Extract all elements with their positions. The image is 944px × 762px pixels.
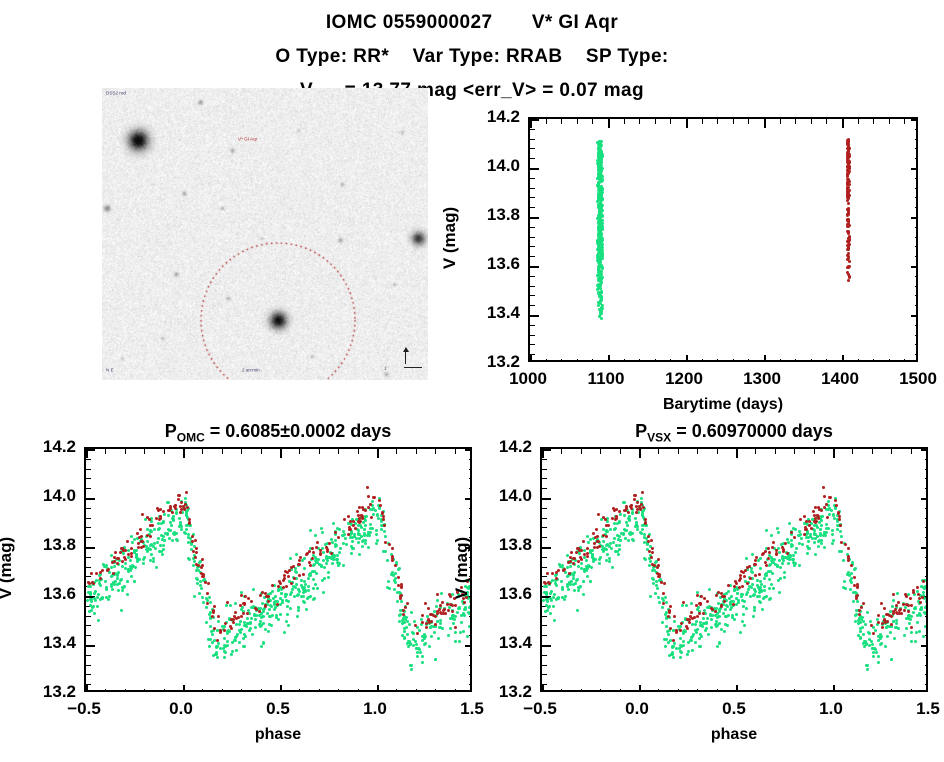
data-point [618,544,621,547]
axis-tick [183,685,185,692]
data-point [177,498,180,501]
axis-tick [530,295,535,296]
data-point [153,528,156,531]
axis-tick [396,689,397,692]
data-point [235,649,238,652]
data-point [90,572,93,575]
data-point [369,523,372,526]
data-point [303,557,306,560]
axis-tick [530,119,539,121]
data-point [605,535,608,538]
axis-tick [925,527,928,528]
data-point [681,604,684,607]
axis-tick [889,359,890,362]
data-point [201,564,204,567]
axis-tick [915,295,918,296]
data-point [274,595,277,598]
axis-tick [125,449,126,454]
data-point [682,644,685,647]
axis-tick [925,684,928,685]
data-point [323,577,326,580]
data-point [599,313,602,316]
data-point [353,535,356,538]
data-point [160,522,163,525]
axis-tick [608,355,610,362]
data-point [178,525,181,528]
x-axis-label-timeseries: Barytime (days) [528,396,918,414]
data-point [312,578,315,581]
axis-tick [377,685,379,692]
data-point [260,645,263,648]
data-point [358,553,361,556]
data-point [447,634,450,637]
data-point [172,518,175,521]
axis-tick [925,674,928,675]
data-point [634,525,637,528]
data-point [839,524,842,527]
data-point [748,585,751,588]
data-point [107,568,110,571]
axis-tick [86,488,91,489]
axis-tick [842,119,844,128]
x-axis-tick-label: 1.0 [330,699,420,719]
data-point [440,592,443,595]
data-point [337,536,340,539]
data-point [814,521,817,524]
data-point [840,535,843,538]
data-point [417,647,420,650]
data-point [580,558,583,561]
data-point [113,565,116,568]
axis-tick [183,449,185,458]
data-point [770,583,773,586]
data-point [99,571,102,574]
axis-tick [105,689,106,692]
data-point [661,621,664,624]
axis-tick [925,488,928,489]
data-point [706,600,709,603]
axis-tick [86,478,91,479]
axis-tick [86,469,91,470]
data-point [555,571,558,574]
data-point [243,645,246,648]
data-point [382,518,385,521]
data-point [699,633,702,636]
data-point [694,641,697,644]
data-point [330,538,333,541]
data-point [549,592,552,595]
data-point [573,589,576,592]
data-point [863,645,866,648]
axis-tick [639,119,640,124]
axis-tick [542,674,547,675]
data-point [436,599,439,602]
data-point [550,599,553,602]
axis-tick [639,449,641,458]
data-point [577,589,580,592]
data-point [826,516,829,519]
data-point [113,583,116,586]
data-point [202,573,205,576]
data-point [758,595,761,598]
data-point [664,645,667,648]
data-point [243,602,246,605]
axis-tick [542,635,547,636]
data-point [840,541,843,544]
data-point [875,651,878,654]
data-point [751,583,754,586]
data-point [280,592,283,595]
var-type-value: RRAB [506,46,563,67]
data-point [892,593,895,596]
finder-chart-image [102,88,428,380]
axis-tick [717,449,718,454]
data-point [823,495,826,498]
data-point [847,559,850,562]
data-point [754,574,757,577]
data-point [120,578,123,581]
data-point [824,534,827,537]
axis-tick [86,655,91,656]
data-point [877,661,880,664]
sp-type-label: SP Type: [586,46,669,67]
data-point [651,551,654,554]
data-point [680,651,683,654]
x-axis-tick-label: 1200 [639,369,729,389]
axis-tick [530,246,535,247]
data-point [583,568,586,571]
data-point [908,622,911,625]
axis-tick [86,557,91,558]
data-point [708,588,711,591]
axis-tick [542,665,547,666]
axis-tick [241,449,242,454]
data-point [244,595,247,598]
data-point [573,557,576,560]
data-point [834,507,837,510]
data-point [269,615,272,618]
data-point [848,260,851,263]
data-point [729,608,732,611]
panel-title-vsx: PVSX = 0.60970000 days [540,421,928,445]
data-point [114,551,117,554]
data-point [702,617,705,620]
finder-fov-label: 2 arcmin [242,368,260,374]
data-point [881,626,884,629]
data-point [577,547,580,550]
data-point [898,609,901,612]
data-point [328,556,331,559]
data-point [308,574,311,577]
data-point [569,565,572,568]
axis-tick [891,449,892,454]
axis-tick [697,689,698,692]
page-title: IOMC 0559000027 V* GI Aqr [0,12,944,34]
data-point [624,509,627,512]
data-point [289,593,292,596]
data-point [216,656,219,659]
data-point [309,529,312,532]
data-point [283,631,286,634]
data-point [759,580,762,583]
data-point [120,609,123,612]
finder-chart: DSS2 red V* GI Aqr N E 2 arcmin 1' [102,88,428,380]
data-point [585,559,588,562]
axis-tick [530,237,535,238]
data-point [194,539,197,542]
axis-tick [925,665,928,666]
data-point [600,233,603,236]
axis-tick [702,119,703,124]
data-point [149,524,152,527]
data-point [156,541,159,544]
data-point [219,647,222,650]
data-point [408,623,411,626]
data-point [868,632,871,635]
data-point [922,635,925,638]
data-point [225,604,228,607]
data-point [381,512,384,515]
axis-tick [435,449,436,454]
data-point [800,537,803,540]
data-point [685,604,688,607]
data-point [847,231,850,234]
data-point [692,633,695,636]
data-point [394,564,397,567]
data-point [831,529,834,532]
data-point [843,580,846,583]
data-point [191,535,194,538]
data-point [440,612,443,615]
axis-tick [561,119,562,124]
data-point [761,608,764,611]
axis-tick [530,158,535,159]
data-point [307,577,310,580]
data-point [877,655,880,658]
axis-tick [530,188,535,189]
axis-tick [733,359,734,362]
data-point [435,605,438,608]
data-point [672,656,675,659]
data-point [254,626,257,629]
axis-tick [925,635,928,636]
data-point [690,602,693,605]
data-point [658,573,661,576]
data-point [413,620,416,623]
data-point [793,536,796,539]
data-point [820,509,823,512]
data-point [224,645,227,648]
data-point [545,585,548,588]
data-point [680,622,683,625]
axis-tick [581,689,582,692]
data-point [188,521,191,524]
data-point [739,574,742,577]
data-point [686,627,689,630]
axis-tick [915,354,918,355]
data-point [599,287,602,290]
data-point [157,528,160,531]
data-point [89,592,92,595]
data-point [437,637,440,640]
data-point [735,613,738,616]
axis-tick [600,689,601,692]
axis-tick [826,119,827,124]
axis-tick [577,359,578,362]
data-point [698,612,701,615]
axis-tick [581,449,582,454]
data-point [719,607,722,610]
data-point [776,527,779,530]
data-point [89,598,92,601]
data-point [765,564,768,567]
axis-tick [338,449,339,454]
data-point [590,566,593,569]
data-point [556,597,559,600]
data-point [807,547,810,550]
data-point [848,239,851,242]
y-axis-label-omc: V (mag) [0,374,16,762]
data-point [378,507,381,510]
data-point [152,560,155,563]
axis-tick [530,335,535,336]
data-point [553,619,556,622]
north-arrow-icon [405,348,406,364]
data-point [198,592,201,595]
axis-tick [530,207,535,208]
data-point [819,528,822,531]
data-point [135,553,138,556]
axis-tick [600,449,601,454]
data-point [857,619,860,622]
data-point [820,542,823,545]
data-point [238,641,241,644]
data-point [630,504,633,507]
data-point [820,524,823,527]
data-point [874,629,877,632]
axis-tick [530,168,539,170]
data-point [201,558,204,561]
axis-tick [319,689,320,692]
data-point [273,608,276,611]
data-point [691,649,694,652]
data-point [100,597,103,600]
axis-tick [639,359,640,362]
data-point [434,658,437,661]
data-point [168,529,171,532]
axis-tick [655,119,656,124]
data-point [768,587,771,590]
data-point [601,198,604,201]
data-point [211,633,214,636]
axis-tick [915,178,918,179]
data-point [302,588,305,591]
data-point [605,544,608,547]
data-point [195,547,198,550]
data-point [749,577,752,580]
data-point [601,228,604,231]
data-point [178,517,181,520]
axis-tick [911,449,912,454]
data-point [312,587,315,590]
axis-tick [416,449,417,454]
data-point [322,591,325,594]
data-point [549,612,552,615]
axis-tick [561,359,562,362]
data-point [767,570,770,573]
data-point [167,514,170,517]
data-point [707,633,710,636]
axis-tick [86,674,91,675]
data-point [870,640,873,643]
data-point [226,644,229,647]
y-axis-tick-label: 14.2 [450,107,520,127]
data-point [433,631,436,634]
data-point [798,564,801,567]
data-point [852,600,855,603]
data-point [866,611,869,614]
data-point [889,631,892,634]
data-point [665,601,668,604]
data-point [790,531,793,534]
data-point [844,543,847,546]
data-point [651,569,654,572]
data-point [566,575,569,578]
data-point [599,296,602,299]
data-point [344,537,347,540]
data-point [444,612,447,615]
data-point [838,515,841,518]
data-point [586,552,589,555]
axis-tick [915,237,918,238]
data-point [610,547,613,550]
x-axis-label-vsx: phase [540,726,928,744]
y-axis-tick-label: 13.6 [6,584,76,604]
data-point [910,640,913,643]
data-point [302,600,305,603]
data-point [439,622,442,625]
axis-tick [872,689,873,692]
data-point [171,539,174,542]
axis-tick [338,689,339,692]
data-point [279,613,282,616]
data-point [295,583,298,586]
data-point [360,535,363,538]
axis-tick [222,689,223,692]
axis-tick [561,449,562,454]
axis-tick [358,449,359,454]
data-point [364,539,367,542]
data-point [267,630,270,633]
data-point [321,531,324,534]
data-point [846,178,849,181]
axis-tick [542,449,551,451]
data-point [238,623,241,626]
data-point [122,552,125,555]
data-point [587,564,590,567]
data-point [366,486,369,489]
axis-tick [748,359,749,362]
axis-tick [915,246,918,247]
panel-title-omc: POMC = 0.6085±0.0002 days [84,421,472,445]
object-type-line: O Type: RR* Var Type: RRAB SP Type: [0,46,944,68]
data-point [711,614,714,617]
data-point [769,597,772,600]
data-point [829,496,832,499]
data-point [163,513,166,516]
data-point [297,609,300,612]
data-point [902,603,905,606]
